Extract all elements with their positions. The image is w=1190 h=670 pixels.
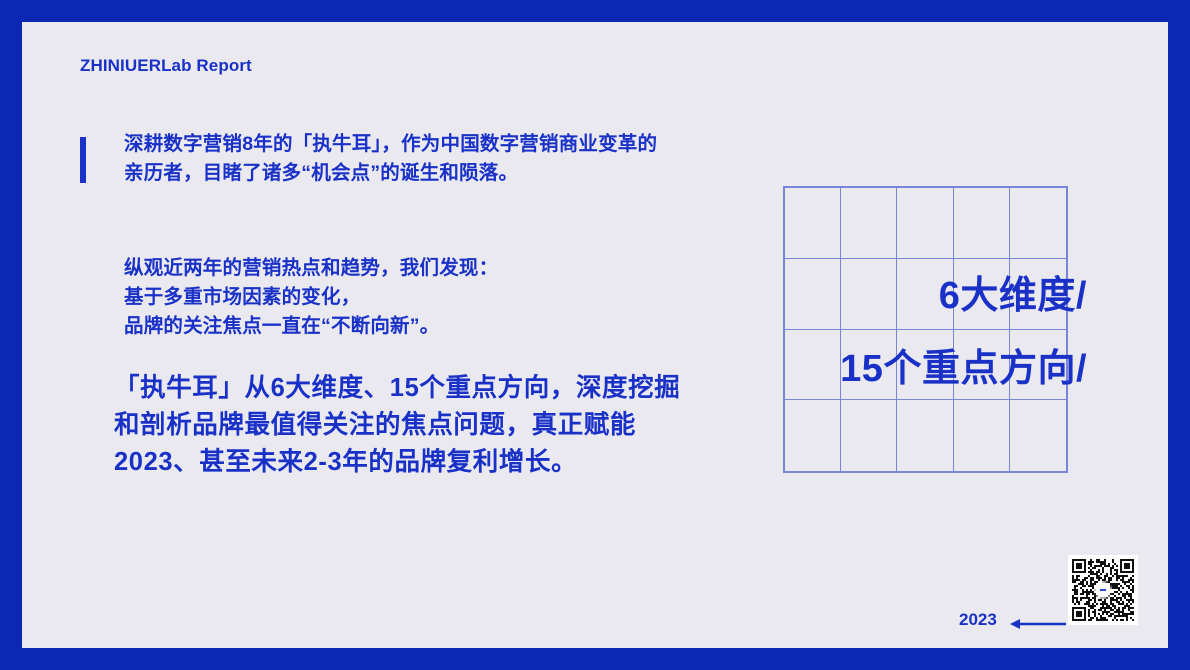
headline-paragraph: 「执牛耳」从6大维度、15个重点方向，深度挖掘 和剖析品牌最值得关注的焦点问题，… <box>114 370 814 481</box>
grid-cell <box>785 330 841 401</box>
arrow-left-icon <box>1010 617 1066 631</box>
grid-cell <box>841 259 897 330</box>
grid-cell <box>954 259 1010 330</box>
grid-cell <box>954 330 1010 401</box>
qr-code-canvas <box>1072 559 1134 621</box>
grid-cell <box>841 330 897 401</box>
findings-line-1: 纵观近两年的营销热点和趋势，我们发现： <box>124 254 784 283</box>
accent-bar <box>80 137 86 183</box>
grid-cell <box>841 188 897 259</box>
grid-cell <box>841 400 897 471</box>
grid-cell <box>785 259 841 330</box>
grid-cell <box>954 400 1010 471</box>
headline-line-1: 「执牛耳」从6大维度、15个重点方向，深度挖掘 <box>114 370 814 407</box>
findings-paragraph: 纵观近两年的营销热点和趋势，我们发现： 基于多重市场因素的变化， 品牌的关注焦点… <box>124 254 784 341</box>
grid-cell <box>1010 188 1066 259</box>
grid-cell <box>897 259 953 330</box>
grid-cell <box>897 400 953 471</box>
grid-cell <box>954 188 1010 259</box>
intro-paragraph: 深耕数字营销8年的「执牛耳」，作为中国数字营销商业变革的 亲历者，目睹了诸多“机… <box>124 130 784 188</box>
footer-year: 2023 <box>959 610 997 630</box>
headline-line-3: 2023、甚至未来2-3年的品牌复利增长。 <box>114 444 814 481</box>
findings-line-3: 品牌的关注焦点一直在“不断向新”。 <box>124 312 784 341</box>
intro-line-2: 亲历者，目睹了诸多“机会点”的诞生和陨落。 <box>124 159 784 188</box>
grid-cell <box>1010 330 1066 401</box>
grid-cell <box>785 188 841 259</box>
grid-cell <box>1010 400 1066 471</box>
dimension-grid <box>783 186 1068 473</box>
page-title: ZHINIUERLab Report <box>80 56 252 76</box>
slide-panel: ZHINIUERLab Report 深耕数字营销8年的「执牛耳」，作为中国数字… <box>22 22 1168 648</box>
grid-cell <box>897 330 953 401</box>
grid-cell <box>897 188 953 259</box>
intro-line-1: 深耕数字营销8年的「执牛耳」，作为中国数字营销商业变革的 <box>124 130 784 159</box>
grid-cell <box>785 400 841 471</box>
headline-line-2: 和剖析品牌最值得关注的焦点问题，真正赋能 <box>114 407 814 444</box>
findings-line-2: 基于多重市场因素的变化， <box>124 283 784 312</box>
grid-cell <box>1010 259 1066 330</box>
qr-code-icon <box>1068 555 1138 625</box>
slide-frame: ZHINIUERLab Report 深耕数字营销8年的「执牛耳」，作为中国数字… <box>0 0 1190 670</box>
